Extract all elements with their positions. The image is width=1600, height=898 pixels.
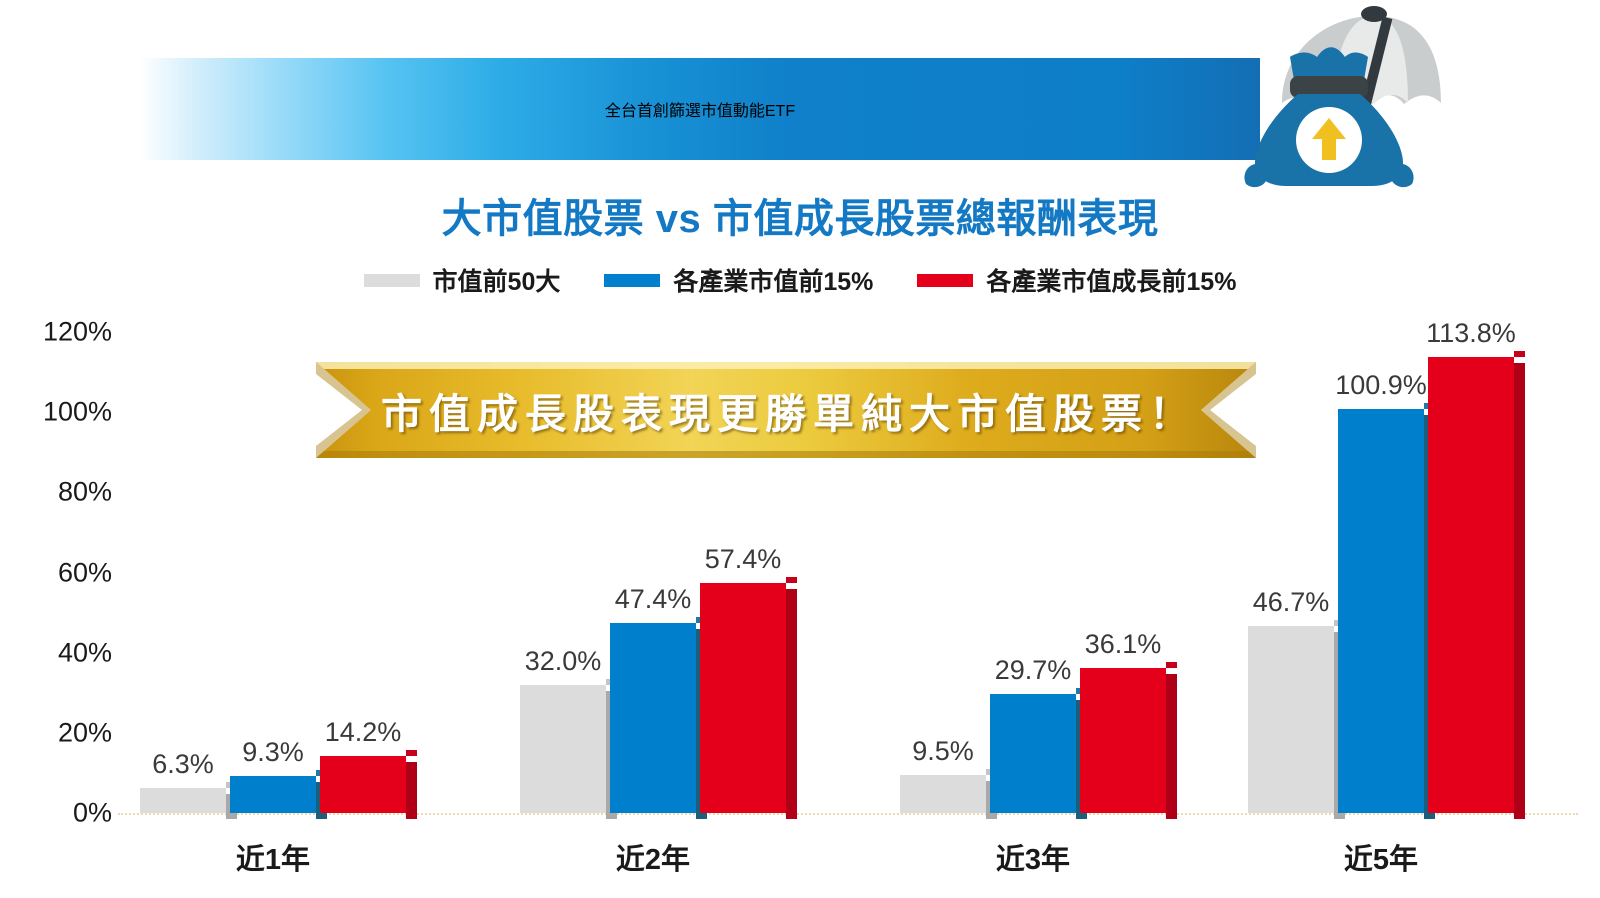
bar-side-face xyxy=(1514,363,1525,819)
bar-value-label: 9.3% xyxy=(242,737,304,768)
x-axis-baseline xyxy=(118,813,1578,815)
bar-side-face xyxy=(1424,415,1435,819)
bar-top-face xyxy=(1076,688,1087,694)
legend-swatch-red xyxy=(917,274,973,287)
bar-side-face xyxy=(1076,700,1087,819)
bar-top-face xyxy=(316,770,327,776)
bar[interactable]: 36.1% xyxy=(1080,668,1166,813)
bar-top-face xyxy=(226,782,237,788)
bar[interactable]: 29.7% xyxy=(990,694,1076,813)
bar-side-face xyxy=(1334,632,1345,819)
bar-value-label: 9.5% xyxy=(912,736,974,767)
chart-legend: 市值前50大 各產業市值前15% 各產業市值成長前15% xyxy=(0,262,1600,298)
bar-side-face xyxy=(316,782,327,819)
bar-front-face xyxy=(140,788,226,813)
legend-label-blue: 各產業市值前15% xyxy=(673,262,873,298)
y-tick-label: 80% xyxy=(58,477,112,508)
bar-front-face xyxy=(230,776,316,813)
bar[interactable]: 46.7% xyxy=(1248,626,1334,813)
bar[interactable]: 113.8% xyxy=(1428,357,1514,813)
bar-front-face xyxy=(990,694,1076,813)
bar-top-face xyxy=(1514,351,1525,357)
bar-top-face xyxy=(1166,662,1177,668)
header-banner-title: 全台首創篩選市值動能ETF xyxy=(605,97,795,121)
bar-side-face xyxy=(406,762,417,819)
header-banner: 全台首創篩選市值動能ETF xyxy=(140,58,1260,160)
bar-front-face xyxy=(520,685,606,813)
bar-side-face xyxy=(606,691,617,819)
bar-top-face xyxy=(696,617,707,623)
bar-front-face xyxy=(900,775,986,813)
bar-value-label: 113.8% xyxy=(1426,318,1516,349)
bar-side-face xyxy=(226,794,237,819)
bar[interactable]: 100.9% xyxy=(1338,409,1424,813)
hero-illustration xyxy=(1222,0,1442,190)
x-axis-label: 近3年 xyxy=(900,836,1166,878)
umbrella-and-money-bag-icon xyxy=(1222,0,1442,190)
legend-swatch-gray xyxy=(364,274,420,287)
bar[interactable]: 47.4% xyxy=(610,623,696,813)
bar[interactable]: 14.2% xyxy=(320,756,406,813)
bar-side-face xyxy=(1166,674,1177,819)
bar-front-face xyxy=(610,623,696,813)
legend-label-gray: 市值前50大 xyxy=(433,262,561,298)
bar[interactable]: 32.0% xyxy=(520,685,606,813)
x-axis-label: 近1年 xyxy=(140,836,406,878)
bar-front-face xyxy=(1248,626,1334,813)
y-tick-label: 20% xyxy=(58,717,112,748)
chart-title: 大市值股票 vs 市值成長股票總報酬表現 xyxy=(0,186,1600,244)
bar-top-face xyxy=(606,679,617,685)
legend-item-gray[interactable]: 市值前50大 xyxy=(364,262,561,298)
ribbon-text: 市值成長股表現更勝單純大市值股票！ xyxy=(316,362,1256,458)
bar-top-face xyxy=(1334,620,1345,626)
legend-label-red: 各產業市值成長前15% xyxy=(986,262,1236,298)
bar-top-face xyxy=(786,577,797,583)
bar-top-face xyxy=(1424,403,1435,409)
legend-item-red[interactable]: 各產業市值成長前15% xyxy=(917,262,1236,298)
bar-value-label: 57.4% xyxy=(705,544,782,575)
bar-value-label: 100.9% xyxy=(1335,370,1427,401)
bar-value-label: 47.4% xyxy=(615,584,692,615)
bar-top-face xyxy=(986,769,997,775)
bar-front-face xyxy=(320,756,406,813)
bar[interactable]: 9.3% xyxy=(230,776,316,813)
bar-side-face xyxy=(986,781,997,819)
y-tick-label: 0% xyxy=(73,798,112,829)
bar[interactable]: 9.5% xyxy=(900,775,986,813)
y-axis: 0%20%40%60%80%100%120% xyxy=(0,0,112,898)
bar-front-face xyxy=(700,583,786,813)
bar-value-label: 32.0% xyxy=(525,646,602,677)
bar-top-face xyxy=(406,750,417,756)
y-tick-label: 60% xyxy=(58,557,112,588)
bar[interactable]: 6.3% xyxy=(140,788,226,813)
legend-item-blue[interactable]: 各產業市值前15% xyxy=(604,262,873,298)
highlight-ribbon: 市值成長股表現更勝單純大市值股票！ xyxy=(316,362,1256,458)
bar[interactable]: 57.4% xyxy=(700,583,786,813)
bar-value-label: 46.7% xyxy=(1253,587,1330,618)
y-tick-label: 120% xyxy=(43,317,112,348)
x-axis-label: 近2年 xyxy=(520,836,786,878)
bar-value-label: 14.2% xyxy=(325,717,402,748)
bar-value-label: 36.1% xyxy=(1085,629,1162,660)
bar-value-label: 6.3% xyxy=(152,749,214,780)
bar-side-face xyxy=(696,629,707,819)
y-tick-label: 40% xyxy=(58,637,112,668)
legend-swatch-blue xyxy=(604,274,660,287)
bar-side-face xyxy=(786,589,797,819)
bar-value-label: 29.7% xyxy=(995,655,1072,686)
y-tick-label: 100% xyxy=(43,397,112,428)
x-axis-label: 近5年 xyxy=(1248,836,1514,878)
bar-front-face xyxy=(1428,357,1514,813)
bar-front-face xyxy=(1338,409,1424,813)
bar-front-face xyxy=(1080,668,1166,813)
